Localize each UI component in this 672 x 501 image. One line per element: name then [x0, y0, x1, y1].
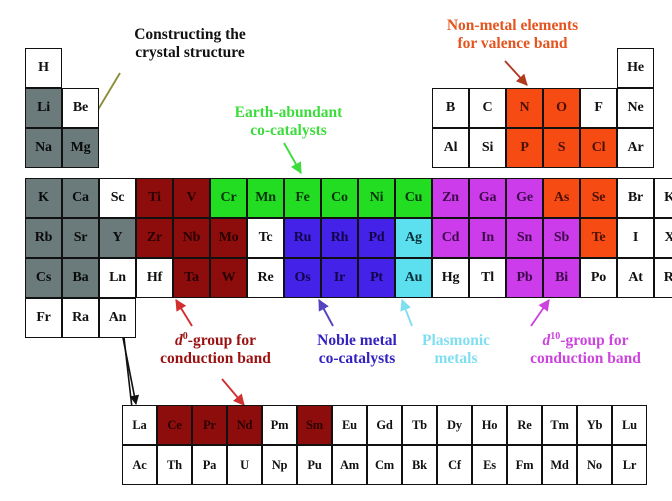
element-symbol: Al: [444, 141, 458, 155]
element-cell-in[interactable]: In: [469, 218, 506, 258]
periodic-table-diagram: HHeLiBeBCNOFNeNaMgAlSiPSClArKCaScTiVCrMn…: [0, 0, 672, 501]
element-symbol: Th: [167, 459, 182, 472]
element-cell-sn[interactable]: Sn: [506, 218, 543, 258]
element-cell-w[interactable]: W: [210, 258, 247, 298]
arrow-non-metal-icon: [505, 61, 527, 85]
element-cell-hf[interactable]: Hf: [136, 258, 173, 298]
element-symbol: Rh: [331, 231, 349, 245]
arrow-d10-group-icon: [531, 300, 549, 326]
element-symbol: No: [587, 459, 602, 472]
element-symbol: K: [38, 191, 49, 205]
arrow-noble-metal-icon: [319, 300, 333, 326]
actinide-cell-no[interactable]: No: [577, 445, 612, 485]
element-symbol: Sc: [111, 191, 125, 205]
element-symbol: In: [481, 231, 494, 245]
element-symbol: Pu: [307, 459, 321, 472]
element-symbol: Y: [113, 231, 123, 245]
element-symbol: Pt: [370, 271, 383, 285]
arrow-earth-abundant-icon: [284, 143, 301, 173]
element-symbol: Re: [258, 271, 274, 285]
element-symbol: N: [520, 101, 530, 115]
element-cell-zr[interactable]: Zr: [136, 218, 173, 258]
element-symbol: Ar: [628, 141, 644, 155]
element-symbol: Ag: [405, 231, 422, 245]
element-symbol: U: [240, 459, 249, 472]
element-cell-zn[interactable]: Zn: [432, 178, 469, 218]
element-cell-be[interactable]: Be: [62, 88, 99, 128]
element-cell-pb[interactable]: Pb: [506, 258, 543, 298]
element-symbol: Ge: [516, 191, 533, 205]
element-symbol: Sn: [517, 231, 532, 245]
element-symbol: Kr: [664, 191, 672, 205]
actinide-cell-th[interactable]: Th: [157, 445, 192, 485]
lanthanide-cell-la[interactable]: La: [122, 405, 157, 445]
actinide-cell-am[interactable]: Am: [332, 445, 367, 485]
element-symbol: Mn: [255, 191, 276, 205]
element-cell-ne[interactable]: Ne: [617, 88, 654, 128]
element-symbol: Os: [295, 271, 311, 285]
element-symbol: Dy: [447, 419, 462, 432]
element-symbol: Ba: [73, 271, 89, 285]
element-symbol: He: [627, 61, 644, 75]
element-symbol: Ac: [132, 459, 146, 472]
element-symbol: Gd: [376, 419, 392, 432]
element-cell-br[interactable]: Br: [617, 178, 654, 218]
element-cell-ge[interactable]: Ge: [506, 178, 543, 218]
element-cell-rh[interactable]: Rh: [321, 218, 358, 258]
element-symbol: Cd: [442, 231, 460, 245]
element-symbol: Cm: [375, 459, 394, 472]
element-symbol: Pd: [369, 231, 385, 245]
element-symbol: Xe: [665, 231, 672, 245]
element-symbol: Eu: [342, 419, 357, 432]
element-cell-rb[interactable]: Rb: [25, 218, 62, 258]
element-cell-ag[interactable]: Ag: [395, 218, 432, 258]
annotation-label-earth-abundant: Earth-abundantco-catalysts: [206, 104, 371, 140]
element-symbol: Zr: [147, 231, 162, 245]
element-cell-h[interactable]: H: [25, 48, 62, 88]
element-symbol: At: [628, 271, 642, 285]
element-cell-s[interactable]: S: [543, 128, 580, 168]
actinide-cell-cm[interactable]: Cm: [367, 445, 402, 485]
element-symbol: Cu: [405, 191, 423, 205]
element-symbol: Rn: [664, 271, 672, 285]
actinide-cell-u[interactable]: U: [227, 445, 262, 485]
lanthanide-cell-ce[interactable]: Ce: [157, 405, 192, 445]
element-symbol: Ce: [167, 419, 181, 432]
element-symbol: S: [558, 141, 566, 155]
element-symbol: Si: [482, 141, 493, 155]
actinide-cell-np[interactable]: Np: [262, 445, 297, 485]
element-symbol: C: [483, 101, 493, 115]
lanthanide-cell-re[interactable]: Re: [507, 405, 542, 445]
element-cell-re[interactable]: Re: [247, 258, 284, 298]
element-symbol: Re: [517, 419, 531, 432]
element-cell-po[interactable]: Po: [580, 258, 617, 298]
element-symbol: Ln: [109, 271, 126, 285]
element-cell-k[interactable]: K: [25, 178, 62, 218]
element-cell-sb[interactable]: Sb: [543, 218, 580, 258]
element-symbol: Es: [483, 459, 496, 472]
element-cell-sr[interactable]: Sr: [62, 218, 99, 258]
lanthanide-cell-eu[interactable]: Eu: [332, 405, 367, 445]
element-symbol: Ne: [628, 101, 644, 115]
element-cell-f[interactable]: F: [580, 88, 617, 128]
lanthanide-cell-nd[interactable]: Nd: [227, 405, 262, 445]
element-symbol: Br: [628, 191, 643, 205]
element-symbol: Hg: [442, 271, 460, 285]
element-symbol: Ru: [294, 231, 312, 245]
lanthanide-cell-tm[interactable]: Tm: [542, 405, 577, 445]
lanthanide-cell-gd[interactable]: Gd: [367, 405, 402, 445]
element-symbol: B: [446, 101, 455, 115]
annotation-label-d10-group: d10-group forconduction band: [508, 332, 663, 368]
element-symbol: Sm: [306, 419, 323, 432]
element-symbol: Po: [591, 271, 606, 285]
arrow-d0-group-up-icon: [176, 300, 192, 326]
element-symbol: Sr: [74, 231, 88, 245]
element-cell-ta[interactable]: Ta: [173, 258, 210, 298]
element-symbol: Bk: [412, 459, 427, 472]
annotation-label-d0-group: d0-group forconduction band: [138, 332, 293, 368]
element-cell-bi[interactable]: Bi: [543, 258, 580, 298]
element-symbol: Yb: [587, 419, 603, 432]
element-cell-au[interactable]: Au: [395, 258, 432, 298]
actinide-cell-pu[interactable]: Pu: [297, 445, 332, 485]
element-symbol: Be: [73, 101, 88, 115]
element-cell-sc[interactable]: Sc: [99, 178, 136, 218]
element-symbol: H: [38, 61, 49, 75]
element-cell-cs[interactable]: Cs: [25, 258, 62, 298]
annotation-label-plasmonic: Plasmonicmetals: [405, 332, 507, 368]
element-symbol: Ti: [148, 191, 161, 205]
element-cell-y[interactable]: Y: [99, 218, 136, 258]
lanthanide-cell-yb[interactable]: Yb: [577, 405, 612, 445]
element-cell-al[interactable]: Al: [432, 128, 469, 168]
element-symbol: Pa: [203, 459, 217, 472]
element-cell-mo[interactable]: Mo: [210, 218, 247, 258]
actinide-cell-md[interactable]: Md: [542, 445, 577, 485]
element-symbol: Ta: [184, 271, 199, 285]
element-cell-kr[interactable]: Kr: [654, 178, 672, 218]
element-cell-ir[interactable]: Ir: [321, 258, 358, 298]
element-symbol: Fr: [36, 311, 50, 325]
element-cell-ca[interactable]: Ca: [62, 178, 99, 218]
annotation-label-constructing: Constructing thecrystal structure: [95, 26, 285, 62]
element-symbol: Ir: [334, 271, 345, 285]
element-cell-v[interactable]: V: [173, 178, 210, 218]
element-cell-an[interactable]: An: [99, 298, 136, 338]
actinide-cell-bk[interactable]: Bk: [402, 445, 437, 485]
element-cell-n[interactable]: N: [506, 88, 543, 128]
element-symbol: An: [109, 311, 127, 325]
element-cell-co[interactable]: Co: [321, 178, 358, 218]
element-symbol: Md: [550, 459, 568, 472]
element-cell-si[interactable]: Si: [469, 128, 506, 168]
element-symbol: Na: [35, 141, 52, 155]
element-cell-c[interactable]: C: [469, 88, 506, 128]
element-symbol: Mo: [219, 231, 239, 245]
element-symbol: Pb: [517, 271, 533, 285]
element-symbol: Lu: [622, 419, 637, 432]
element-symbol: Ra: [72, 311, 89, 325]
element-symbol: Pm: [271, 419, 289, 432]
actinide-cell-cf[interactable]: Cf: [437, 445, 472, 485]
actinide-cell-pa[interactable]: Pa: [192, 445, 227, 485]
element-cell-ra[interactable]: Ra: [62, 298, 99, 338]
annotation-label-non-metal: Non-metal elementsfor valence band: [405, 17, 620, 53]
element-cell-li[interactable]: Li: [25, 88, 62, 128]
element-symbol: Au: [405, 271, 423, 285]
lanthanide-cell-dy[interactable]: Dy: [437, 405, 472, 445]
element-symbol: W: [222, 271, 236, 285]
element-cell-tc[interactable]: Tc: [247, 218, 284, 258]
element-symbol: V: [187, 191, 197, 205]
element-cell-se[interactable]: Se: [580, 178, 617, 218]
lanthanide-cell-ho[interactable]: Ho: [472, 405, 507, 445]
actinide-cell-lr[interactable]: Lr: [612, 445, 647, 485]
element-symbol: Sb: [554, 231, 569, 245]
element-symbol: La: [132, 419, 146, 432]
lanthanide-cell-pr[interactable]: Pr: [192, 405, 227, 445]
element-symbol: I: [633, 231, 638, 245]
element-symbol: Nb: [183, 231, 201, 245]
arrow-plasmonic-icon: [402, 300, 412, 326]
element-cell-pt[interactable]: Pt: [358, 258, 395, 298]
element-cell-hg[interactable]: Hg: [432, 258, 469, 298]
element-cell-as[interactable]: As: [543, 178, 580, 218]
element-cell-p[interactable]: P: [506, 128, 543, 168]
element-symbol: Se: [592, 191, 606, 205]
element-symbol: Cf: [448, 459, 461, 472]
element-cell-mg[interactable]: Mg: [62, 128, 99, 168]
element-symbol: Co: [331, 191, 348, 205]
element-cell-ga[interactable]: Ga: [469, 178, 506, 218]
element-symbol: Fe: [295, 191, 309, 205]
lanthanide-cell-tb[interactable]: Tb: [402, 405, 437, 445]
element-cell-ti[interactable]: Ti: [136, 178, 173, 218]
element-symbol: Li: [37, 101, 50, 115]
element-cell-nb[interactable]: Nb: [173, 218, 210, 258]
lanthanide-cell-sm[interactable]: Sm: [297, 405, 332, 445]
actinide-cell-ac[interactable]: Ac: [122, 445, 157, 485]
element-symbol: Ga: [479, 191, 497, 205]
element-cell-at[interactable]: At: [617, 258, 654, 298]
element-cell-mn[interactable]: Mn: [247, 178, 284, 218]
element-symbol: Lr: [623, 459, 637, 472]
element-symbol: Cl: [592, 141, 606, 155]
element-symbol: Bi: [555, 271, 568, 285]
element-cell-o[interactable]: O: [543, 88, 580, 128]
element-symbol: Np: [272, 459, 288, 472]
element-cell-cd[interactable]: Cd: [432, 218, 469, 258]
element-cell-fr[interactable]: Fr: [25, 298, 62, 338]
element-symbol: F: [594, 101, 602, 115]
element-cell-na[interactable]: Na: [25, 128, 62, 168]
element-cell-ln[interactable]: Ln: [99, 258, 136, 298]
arrow-d0-group-down-icon: [222, 379, 244, 405]
element-symbol: Zn: [442, 191, 459, 205]
lanthanide-cell-lu[interactable]: Lu: [612, 405, 647, 445]
element-symbol: Am: [340, 459, 359, 472]
element-symbol: Tm: [550, 419, 568, 432]
element-symbol: Hf: [147, 271, 162, 285]
element-symbol: Te: [592, 231, 606, 245]
element-symbol: O: [556, 101, 567, 115]
element-symbol: P: [520, 141, 528, 155]
element-symbol: Tl: [481, 271, 494, 285]
element-cell-pd[interactable]: Pd: [358, 218, 395, 258]
element-symbol: Mg: [71, 141, 91, 155]
element-symbol: Tb: [412, 419, 427, 432]
element-cell-fe[interactable]: Fe: [284, 178, 321, 218]
lanthanide-cell-pm[interactable]: Pm: [262, 405, 297, 445]
element-symbol: Cs: [36, 271, 51, 285]
element-cell-os[interactable]: Os: [284, 258, 321, 298]
element-symbol: Ca: [72, 191, 89, 205]
element-symbol: Tc: [259, 231, 273, 245]
element-symbol: Ho: [482, 419, 498, 432]
actinide-cell-es[interactable]: Es: [472, 445, 507, 485]
element-cell-te[interactable]: Te: [580, 218, 617, 258]
element-cell-ba[interactable]: Ba: [62, 258, 99, 298]
element-cell-ni[interactable]: Ni: [358, 178, 395, 218]
element-symbol: Fm: [516, 459, 534, 472]
element-cell-cu[interactable]: Cu: [395, 178, 432, 218]
element-cell-cl[interactable]: Cl: [580, 128, 617, 168]
element-symbol: Ni: [370, 191, 384, 205]
element-cell-ru[interactable]: Ru: [284, 218, 321, 258]
annotation-label-noble-metal: Noble metalco-catalysts: [292, 332, 422, 368]
element-cell-he[interactable]: He: [617, 48, 654, 88]
actinide-cell-fm[interactable]: Fm: [507, 445, 542, 485]
element-cell-i[interactable]: I: [617, 218, 654, 258]
element-symbol: Pr: [203, 419, 216, 432]
element-symbol: Rb: [35, 231, 53, 245]
element-cell-rn[interactable]: Rn: [654, 258, 672, 298]
element-symbol: As: [554, 191, 569, 205]
element-cell-tl[interactable]: Tl: [469, 258, 506, 298]
element-cell-b[interactable]: B: [432, 88, 469, 128]
element-cell-cr[interactable]: Cr: [210, 178, 247, 218]
element-cell-ar[interactable]: Ar: [617, 128, 654, 168]
element-cell-xe[interactable]: Xe: [654, 218, 672, 258]
element-symbol: Cr: [221, 191, 237, 205]
element-symbol: Nd: [237, 419, 253, 432]
